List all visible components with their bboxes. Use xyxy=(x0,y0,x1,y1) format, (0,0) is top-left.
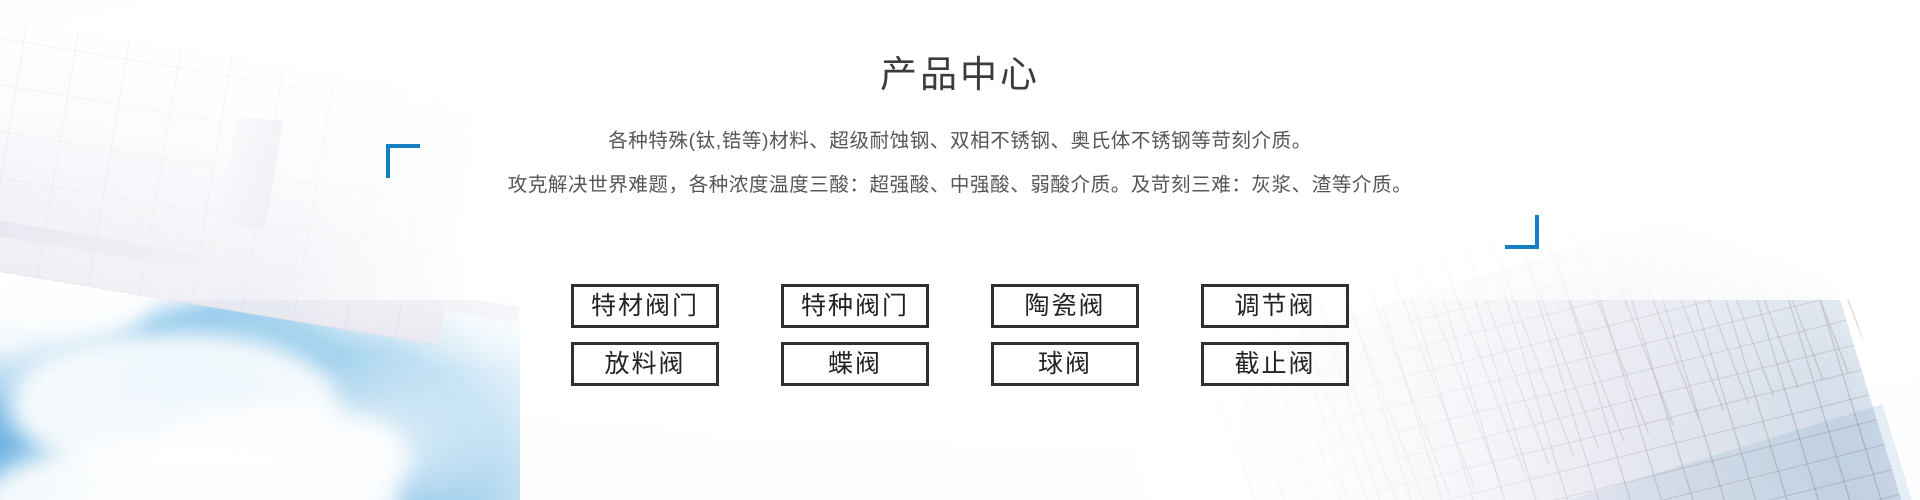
tag-tao-ci-fa[interactable]: 陶瓷阀 xyxy=(991,284,1139,328)
corner-bracket-bottom-right-icon xyxy=(1505,215,1539,249)
subtitle-line-2: 攻克解决世界难题，各种浓度温度三酸：超强酸、中强酸、弱酸介质。及苛刻三难：灰浆、… xyxy=(0,170,1920,200)
tag-die-fa[interactable]: 蝶阀 xyxy=(781,342,929,386)
tag-row-2: 放料阀 蝶阀 球阀 截止阀 xyxy=(0,342,1920,386)
product-center-banner: 产品中心 各种特殊(钛,锆等)材料、超级耐蚀钢、双相不锈钢、奥氏体不锈钢等苛刻介… xyxy=(0,0,1920,500)
page-title: 产品中心 xyxy=(0,50,1920,100)
tag-tiao-jie-fa[interactable]: 调节阀 xyxy=(1201,284,1349,328)
tag-row-1: 特材阀门 特种阀门 陶瓷阀 调节阀 xyxy=(0,284,1920,328)
tag-fang-liao-fa[interactable]: 放料阀 xyxy=(571,342,719,386)
tag-jie-zhi-fa[interactable]: 截止阀 xyxy=(1201,342,1349,386)
tag-te-zhong-fa-men[interactable]: 特种阀门 xyxy=(781,284,929,328)
subtitle-line-1: 各种特殊(钛,锆等)材料、超级耐蚀钢、双相不锈钢、奥氏体不锈钢等苛刻介质。 xyxy=(0,126,1920,156)
product-category-tags: 特材阀门 特种阀门 陶瓷阀 调节阀 放料阀 蝶阀 球阀 截止阀 xyxy=(0,284,1920,400)
tag-te-cai-fa-men[interactable]: 特材阀门 xyxy=(571,284,719,328)
tag-qiu-fa[interactable]: 球阀 xyxy=(991,342,1139,386)
banner-content: 产品中心 各种特殊(钛,锆等)材料、超级耐蚀钢、双相不锈钢、奥氏体不锈钢等苛刻介… xyxy=(0,0,1920,500)
